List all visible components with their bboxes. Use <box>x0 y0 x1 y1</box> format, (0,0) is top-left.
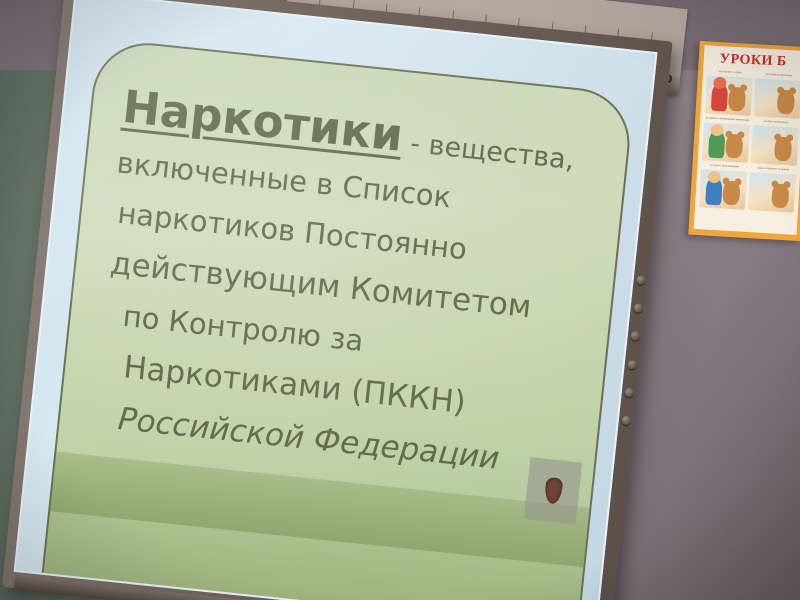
poster-panel: будь осторожен на дороге <box>748 166 797 213</box>
interactive-whiteboard[interactable]: Наркотики - вещества, включенные в Списо… <box>2 0 673 600</box>
bear-figure-icon <box>776 90 794 115</box>
bear-figure-icon <box>773 136 791 161</box>
bear-figure-icon <box>727 87 745 112</box>
bear-figure-icon <box>771 183 789 208</box>
poster-illustration <box>702 122 750 163</box>
slide-heading-tail: - вещества, <box>400 127 575 176</box>
child-figure-icon <box>710 84 728 112</box>
poster-panel-grid: как играют с огнём не играй со спичками … <box>697 69 800 213</box>
presentation-slide[interactable]: Наркотики - вещества, включенные в Списо… <box>39 38 635 600</box>
bear-figure-icon <box>722 180 740 205</box>
whiteboard-button-6[interactable] <box>621 415 631 425</box>
bear-figure-icon <box>725 134 743 159</box>
whiteboard-button-1[interactable] <box>636 275 646 285</box>
child-figure-icon <box>705 177 723 205</box>
slide-logo <box>524 457 582 524</box>
poster-panel: не ходи с незнакомцами <box>699 163 748 210</box>
poster-panel: как играют с огнём <box>705 69 754 116</box>
slide-body-text: Наркотики - вещества, включенные в Списо… <box>87 83 613 501</box>
whiteboard-button-4[interactable] <box>627 359 637 369</box>
whiteboard-screen[interactable]: Наркотики - вещества, включенные в Списо… <box>14 0 658 600</box>
poster-illustration <box>748 172 796 213</box>
poster-panel: не играй с незнакомыми животными <box>702 116 751 163</box>
whiteboard-button-3[interactable] <box>630 331 640 341</box>
child-figure-icon <box>707 131 725 159</box>
poster-illustration <box>699 169 747 210</box>
poster-content: УРОКИ Б как играют с огнём не играй со с… <box>694 45 800 235</box>
whiteboard-button-2[interactable] <box>633 303 643 313</box>
poster-illustration <box>751 125 799 166</box>
poster-illustration <box>753 78 800 119</box>
room-scene: П Ф К Т Ш С Х Ц Ч Щ Ь Ъ УРОКИ Б как игра… <box>0 0 800 600</box>
poster-illustration <box>705 75 753 116</box>
safety-poster: УРОКИ Б как играют с огнём не играй со с… <box>688 41 800 241</box>
poster-title: УРОКИ Б <box>701 51 800 71</box>
whiteboard-button-5[interactable] <box>624 387 634 397</box>
poster-panel: не играй со спичками <box>753 72 800 119</box>
shield-crest-icon <box>543 477 563 505</box>
poster-panel: не бери чужие вещи <box>751 119 800 166</box>
